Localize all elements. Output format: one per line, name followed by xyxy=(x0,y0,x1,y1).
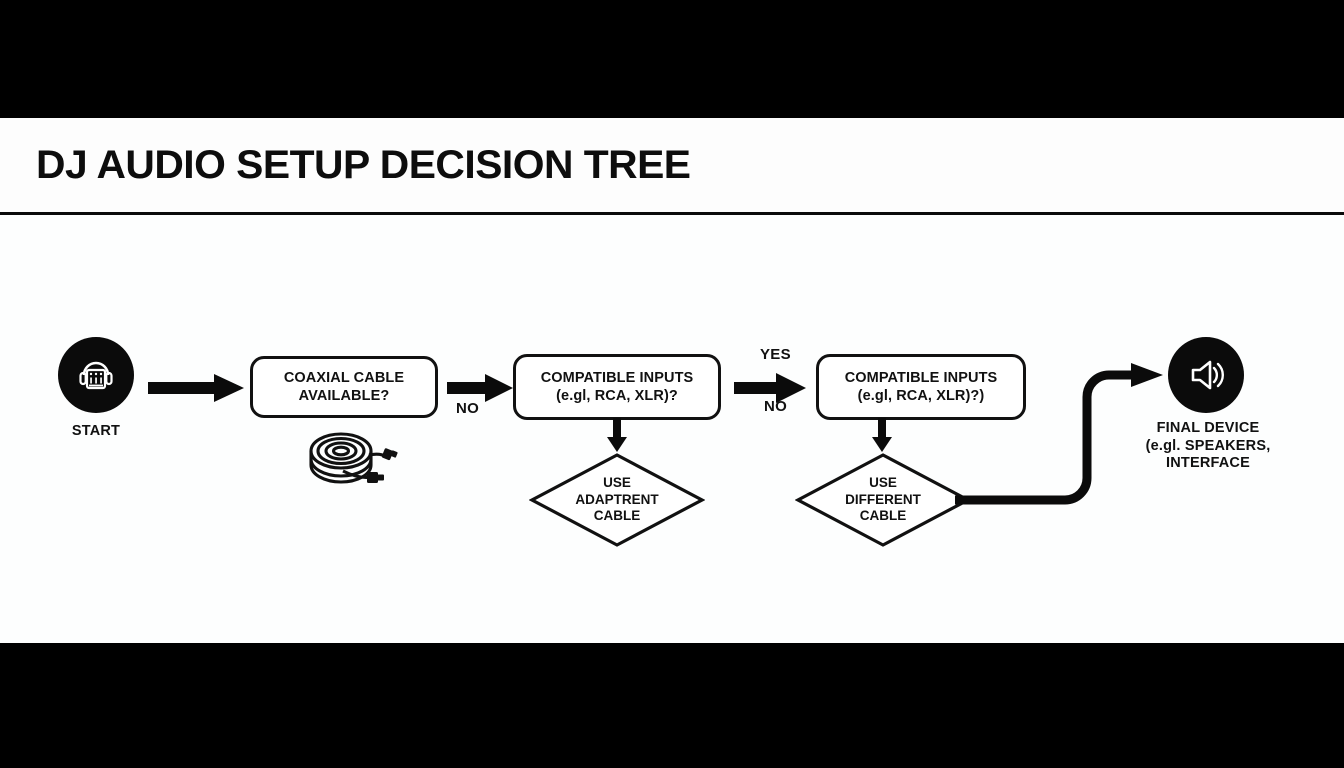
page-title: DJ AUDIO SETUP DECISION TREE xyxy=(36,143,691,188)
coiled-cable-icon xyxy=(303,425,399,493)
diamond-shape xyxy=(529,452,705,548)
decision-box-inputs-1-line2: (e.gl, RCA, XLR)? xyxy=(541,387,694,405)
top-black-band xyxy=(0,0,1344,118)
diagram-canvas: START COAXIAL CABLE AVAILABLE? xyxy=(0,215,1344,643)
bottom-black-band xyxy=(0,643,1344,768)
edge-label-yes-2: YES xyxy=(760,346,791,363)
edge-label-no-2: NO xyxy=(764,398,787,415)
start-caption: START xyxy=(38,423,154,441)
diamond-use-different[interactable]: USE DIFFERENT CABLE xyxy=(795,452,971,548)
decision-box-coaxial[interactable]: COAXIAL CABLE AVAILABLE? xyxy=(250,356,438,418)
final-device-caption: FINAL DEVICE (e.gl. SPEAKERS, INTERFACE xyxy=(1128,420,1288,473)
poster-frame: DJ AUDIO SETUP DECISION TREE START xyxy=(0,0,1344,768)
diamond-use-adapter[interactable]: USE ADAPTRENT CABLE xyxy=(529,452,705,548)
final-device-caption-line1: FINAL DEVICE xyxy=(1128,420,1288,438)
title-band: DJ AUDIO SETUP DECISION TREE xyxy=(0,118,1344,215)
final-device-node[interactable] xyxy=(1168,337,1244,413)
arrow-inputs1-to-adapter xyxy=(603,418,631,454)
final-device-caption-line3: INTERFACE xyxy=(1128,455,1288,473)
edge-label-no-1: NO xyxy=(456,400,479,417)
arrow-inputs2-to-different xyxy=(868,418,896,454)
diamond-shape xyxy=(795,452,971,548)
start-node[interactable] xyxy=(58,337,134,413)
decision-box-inputs-1-line1: COMPATIBLE INPUTS xyxy=(541,369,694,387)
final-device-caption-line2: (e.gl. SPEAKERS, xyxy=(1128,438,1288,456)
dj-mixer-headphones-icon xyxy=(74,353,118,397)
arrow-start-to-coaxial xyxy=(148,370,248,406)
decision-box-inputs-1[interactable]: COMPATIBLE INPUTS (e.gl, RCA, XLR)? xyxy=(513,354,721,420)
decision-box-coaxial-line1: COAXIAL CABLE xyxy=(284,369,404,387)
decision-box-coaxial-line2: AVAILABLE? xyxy=(284,387,404,405)
speaker-icon xyxy=(1184,353,1228,397)
